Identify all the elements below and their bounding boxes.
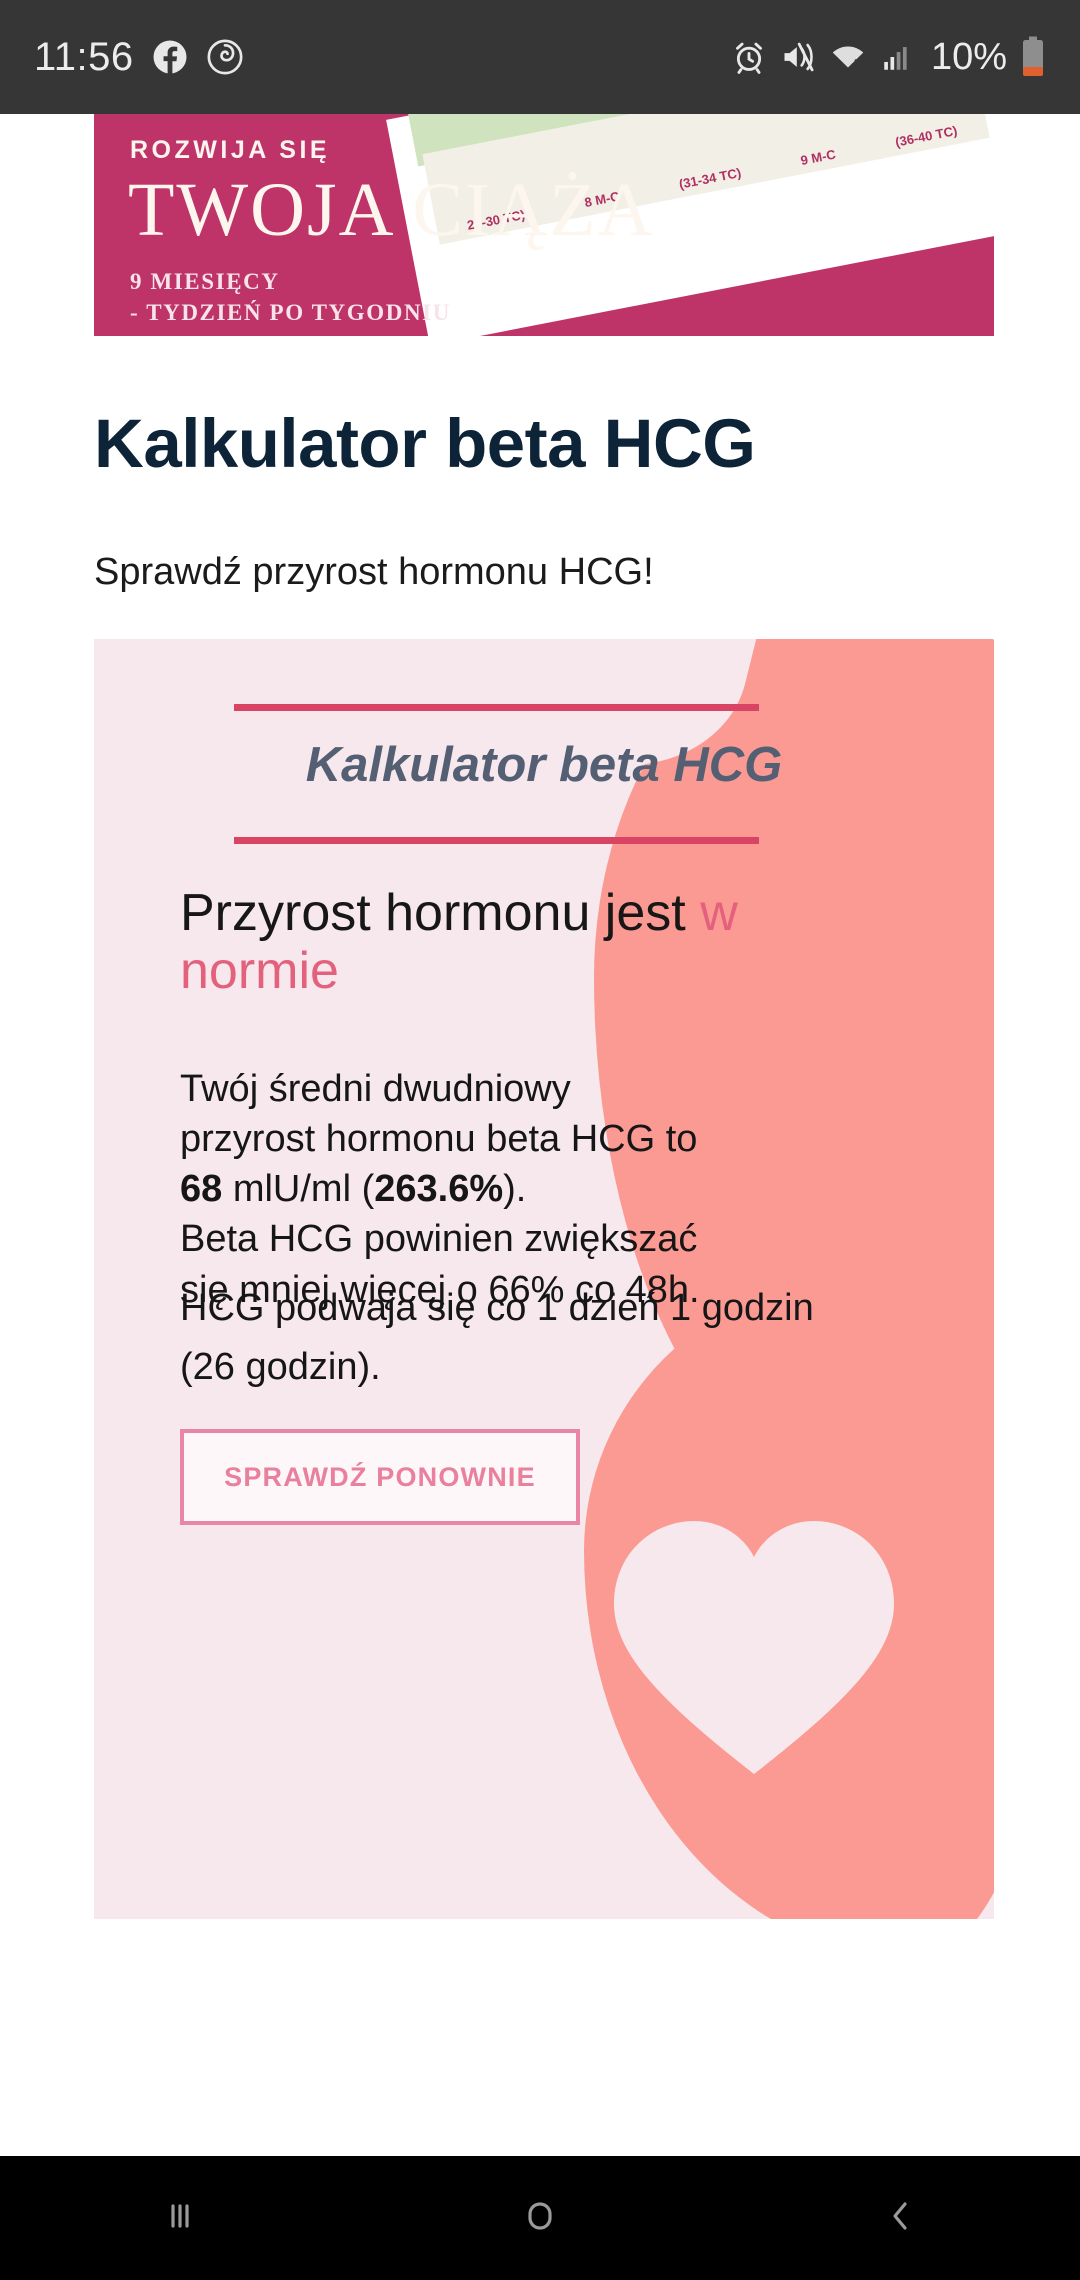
circle-swirl-icon (206, 38, 244, 76)
heart-icon (604, 1509, 904, 1789)
phone-screen: 11:56 (0, 0, 1080, 2280)
growth-tail: ). (503, 1168, 526, 1210)
status-bar-left: 11:56 (34, 35, 244, 80)
growth-line-4: Beta HCG powinien zwiększać (180, 1218, 697, 1260)
banner-kicker: ROZWIJA SIĘ (130, 136, 330, 165)
page-title: Kalkulator beta HCG (94, 404, 994, 483)
status-bar-right: 10% (731, 36, 1046, 79)
card-rule-bottom (234, 837, 759, 844)
wifi-icon (829, 38, 867, 76)
growth-value: 68 (180, 1168, 222, 1210)
card-rule-top (234, 704, 759, 711)
back-icon (876, 2192, 924, 2245)
doubling-paragraph: HCG podwaja się co 1 dzień 1 godzin (26 … (180, 1279, 820, 1397)
growth-percent: 263.6% (374, 1168, 503, 1210)
banner-subtitle-line2: - TYDZIEŃ PO TYGODNIU (130, 297, 451, 328)
strip-label: (31-34 TC) (678, 165, 743, 192)
back-button[interactable] (840, 2156, 960, 2280)
doubling-line-2: (26 godzin). (180, 1346, 381, 1388)
alarm-icon (731, 39, 767, 75)
home-icon (516, 2192, 564, 2245)
recents-icon (156, 2192, 204, 2245)
banner-subtitle: 9 MIESIĘCY - TYDZIEŃ PO TYGODNIU (130, 266, 451, 328)
card-title: Kalkulator beta HCG (94, 737, 994, 793)
recheck-button[interactable]: SPRAWDŹ PONOWNIE (180, 1429, 580, 1525)
home-button[interactable] (480, 2156, 600, 2280)
recents-button[interactable] (120, 2156, 240, 2280)
growth-line-1: Twój średni dwudniowy (180, 1068, 571, 1110)
doubling-line-1: HCG podwaja się co 1 dzień 1 godzin (180, 1287, 814, 1329)
strip-label: (36-40 TC) (894, 123, 959, 150)
android-nav-bar (0, 2156, 1080, 2280)
growth-line-2: przyrost hormonu beta HCG to (180, 1118, 697, 1160)
page-subtitle: Sprawdź przyrost hormonu HCG! (94, 551, 994, 594)
growth-paragraph: Twój średni dwudniowy przyrost hormonu b… (180, 1064, 820, 1315)
growth-unit: mlU/ml ( (222, 1168, 374, 1210)
page-content: 27-30 TC) 8 M-C (31-34 TC) 9 M-C (36-40 … (0, 114, 1080, 2156)
banner-title: TWOJA CIĄŻA (128, 172, 655, 248)
status-bar: 11:56 (0, 0, 1080, 114)
facebook-icon (152, 39, 188, 75)
mute-vibrate-icon (780, 39, 816, 75)
cellular-signal-icon (880, 40, 914, 74)
battery-icon (1020, 36, 1046, 78)
result-heading: Przyrost hormonu jest w normie (180, 884, 830, 1000)
hcg-calculator-card: Kalkulator beta HCG Przyrost hormonu jes… (94, 639, 994, 1919)
magazine-banner[interactable]: 27-30 TC) 8 M-C (31-34 TC) 9 M-C (36-40 … (94, 114, 994, 336)
strip-label: 9 M-C (799, 147, 837, 168)
result-heading-prefix: Przyrost hormonu jest (180, 884, 700, 942)
status-time: 11:56 (34, 35, 134, 80)
banner-subtitle-line1: 9 MIESIĘCY (130, 266, 451, 297)
battery-percent: 10% (931, 36, 1007, 79)
